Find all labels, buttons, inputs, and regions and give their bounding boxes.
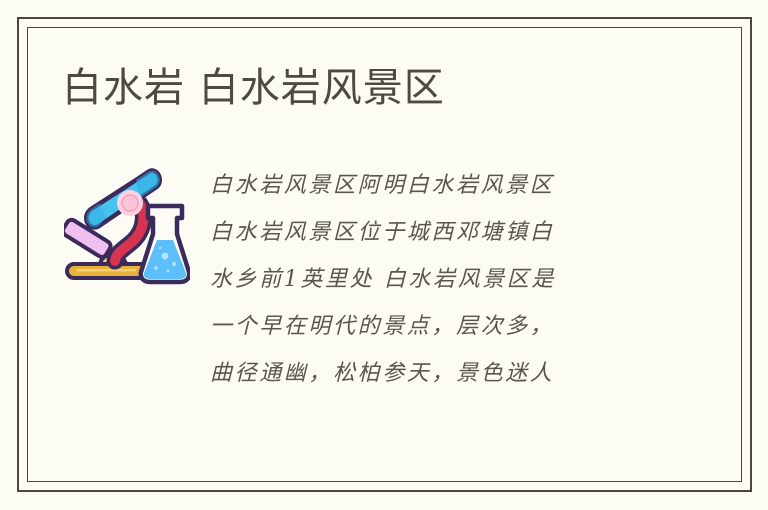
microscope-and-flask-icon <box>64 168 190 286</box>
page-title: 白水岩 白水岩风景区 <box>62 62 445 114</box>
article-line: 曲径通幽，松柏参天，景色迷人 <box>210 350 706 397</box>
illustration-container <box>62 160 192 286</box>
article-content: 白水岩风景区阿明白水岩风景区 白水岩风景区位于城西邓塘镇白 水乡前1英里处 白水… <box>62 160 706 397</box>
article-card: 白水岩 白水岩风景区 <box>0 0 768 510</box>
erlenmeyer-flask-icon <box>141 206 190 282</box>
article-line: 一个早在明代的景点，层次多， <box>210 303 706 350</box>
article-line: 白水岩风景区位于城西邓塘镇白 <box>210 209 706 256</box>
article-body: 白水岩风景区阿明白水岩风景区 白水岩风景区位于城西邓塘镇白 水乡前1英里处 白水… <box>192 160 706 397</box>
article-line: 水乡前1英里处 白水岩风景区是 <box>210 256 706 303</box>
article-line: 白水岩风景区阿明白水岩风景区 <box>210 162 706 209</box>
